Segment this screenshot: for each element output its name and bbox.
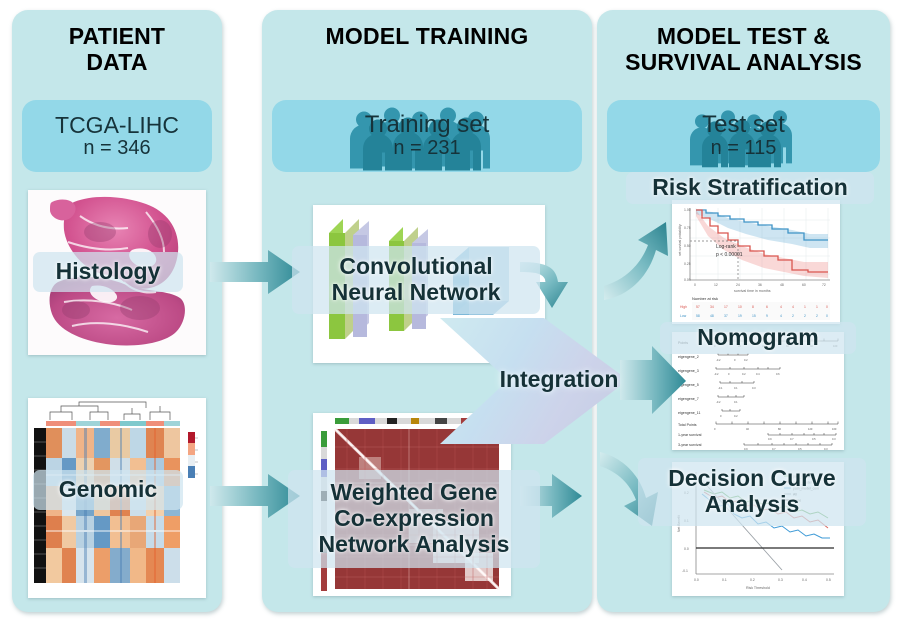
svg-text:0.9: 0.9 [744,447,748,450]
svg-text:72: 72 [822,283,826,287]
svg-text:58: 58 [696,314,700,318]
cohort-count-training-set: n = 231 [393,138,460,160]
svg-text:0.3: 0.3 [752,386,756,390]
svg-text:0.3: 0.3 [824,447,828,450]
cohort-band-text-test: Test set n = 115 [607,100,880,172]
svg-text:48: 48 [780,283,784,287]
svg-text:8: 8 [752,305,754,309]
sample-annotation-bar [46,421,180,426]
svg-text:10: 10 [738,305,742,309]
caption-histology: Histology [33,252,183,292]
cohort-band-training: Training set n = 231 [272,100,582,172]
svg-text:eigengene_5: eigengene_5 [678,383,699,387]
svg-text:eigengene_3: eigengene_3 [678,369,699,373]
svg-text:34: 34 [710,305,714,309]
cohort-count-test-set: n = 115 [711,138,777,160]
panel-title-patient-data: PATIENT DATA [12,24,222,76]
svg-text:0.0: 0.0 [684,547,689,551]
caption-genomic: Genomic [33,470,183,510]
svg-text:9: 9 [766,314,768,318]
svg-text:0.9: 0.9 [768,437,772,441]
svg-text:-0.1: -0.1 [682,569,688,573]
svg-text:120: 120 [808,427,813,431]
svg-text:0.5: 0.5 [798,447,802,450]
svg-text:-0.1: -0.1 [718,386,723,390]
svg-text:0.1: 0.1 [734,400,738,404]
svg-text:15: 15 [752,314,756,318]
svg-text:48: 48 [710,314,714,318]
svg-text:High: High [680,305,687,309]
svg-text:3-year survival: 3-year survival [678,443,702,447]
svg-text:0.25: 0.25 [684,262,691,266]
svg-text:0.6: 0.6 [776,372,780,376]
panel-title-model-test: MODEL TEST & SURVIVAL ANALYSIS [597,24,890,76]
caption-decision-curve-analysis: Decision Curve Analysis [638,458,866,526]
cohort-count-tcga-lihc: n = 346 [83,138,150,160]
svg-text:24: 24 [736,283,740,287]
svg-text:160: 160 [832,427,837,431]
svg-text:19: 19 [738,314,742,318]
cohort-name-tcga-lihc: TCGA-LIHC [55,113,179,138]
svg-text:eigengene_11: eigengene_11 [678,411,701,415]
svg-text:eigengene_2: eigengene_2 [678,355,699,359]
caption-wgcna: Weighted Gene Co-expression Network Anal… [288,470,540,568]
svg-text:net survival probability: net survival probability [678,224,682,256]
svg-text:0: 0 [826,314,828,318]
svg-text:0.2: 0.2 [734,414,738,418]
svg-text:0.1: 0.1 [722,578,727,582]
svg-text:0: 0 [694,283,696,287]
cohort-name-test-set: Test set [702,112,785,138]
caption-convolutional-neural-network: Convolutional Neural Network [292,246,540,314]
svg-text:12: 12 [714,283,718,287]
caption-nomogram: Nomogram [660,322,856,354]
svg-text:0.7: 0.7 [772,447,776,450]
svg-text:2: 2 [804,314,806,318]
svg-text:37: 37 [724,314,728,318]
svg-text:Total Points: Total Points [678,423,697,427]
svg-text:0.2: 0.2 [744,358,748,362]
svg-text:2: 2 [792,314,794,318]
svg-text:1: 1 [816,305,818,309]
svg-text:1.00: 1.00 [684,208,691,212]
figure-kaplan-meier-plot: Log-rank p < 0.00001 1.000.750.500.250.0… [672,200,840,324]
caption-risk-stratification: Risk Stratification [626,172,874,204]
svg-text:1-year survival: 1-year survival [678,433,702,437]
svg-text:4: 4 [780,305,782,309]
svg-text:p < 0.00001: p < 0.00001 [716,252,743,258]
svg-text:4: 4 [792,305,794,309]
svg-text:eigengene_7: eigengene_7 [678,397,699,401]
svg-text:57: 57 [696,305,700,309]
svg-text:0.00: 0.00 [684,278,691,282]
svg-text:0.75: 0.75 [684,226,691,230]
panel-title-model-training: MODEL TRAINING [262,24,592,50]
kaplan-meier-survival-chart: Log-rank p < 0.00001 1.000.750.500.250.0… [672,200,840,324]
svg-text:survival time in months: survival time in months [734,289,771,293]
svg-text:36: 36 [758,283,762,287]
module-color-bar-top [335,418,491,424]
svg-text:0.4: 0.4 [756,372,760,376]
svg-text:-0.2: -0.2 [714,372,719,376]
svg-text:2: 2 [816,314,818,318]
svg-text:Number at risk: Number at risk [692,296,718,301]
svg-text:0.4: 0.4 [802,578,807,582]
svg-text:6: 6 [766,305,768,309]
svg-text:0.3: 0.3 [778,578,783,582]
svg-text:1: 1 [804,305,806,309]
svg-text:0.5: 0.5 [826,578,831,582]
caption-integration: Integration [478,362,640,398]
svg-text:Log-rank: Log-rank [716,244,736,250]
cohort-band-patient-data: TCGA-LIHC n = 346 [22,100,212,172]
svg-text:17: 17 [724,305,728,309]
svg-text:0.0: 0.0 [694,578,699,582]
svg-text:0.2: 0.2 [742,372,746,376]
svg-text:0.2: 0.2 [750,578,755,582]
cohort-band-text-patient: TCGA-LIHC n = 346 [22,100,212,172]
cohort-band-test: Test set n = 115 [607,100,880,172]
svg-text:Low: Low [680,314,687,318]
figure-canvas: PATIENT DATA TCGA-LIHC n = 346 MODEL TRA… [0,0,909,632]
svg-text:0.7: 0.7 [790,437,794,441]
cohort-band-text-training: Training set n = 231 [272,100,582,172]
cohort-name-training-set: Training set [365,112,490,138]
svg-text:0.1: 0.1 [734,386,738,390]
svg-text:-0.2: -0.2 [716,358,721,362]
svg-text:0.5: 0.5 [812,437,816,441]
svg-text:Risk Threshold: Risk Threshold [746,586,770,590]
svg-text:4: 4 [780,314,782,318]
svg-text:0.3: 0.3 [832,437,836,441]
svg-text:60: 60 [802,283,806,287]
svg-text:0: 0 [826,305,828,309]
svg-text:-0.2: -0.2 [716,400,721,404]
svg-text:0.50: 0.50 [684,244,691,248]
